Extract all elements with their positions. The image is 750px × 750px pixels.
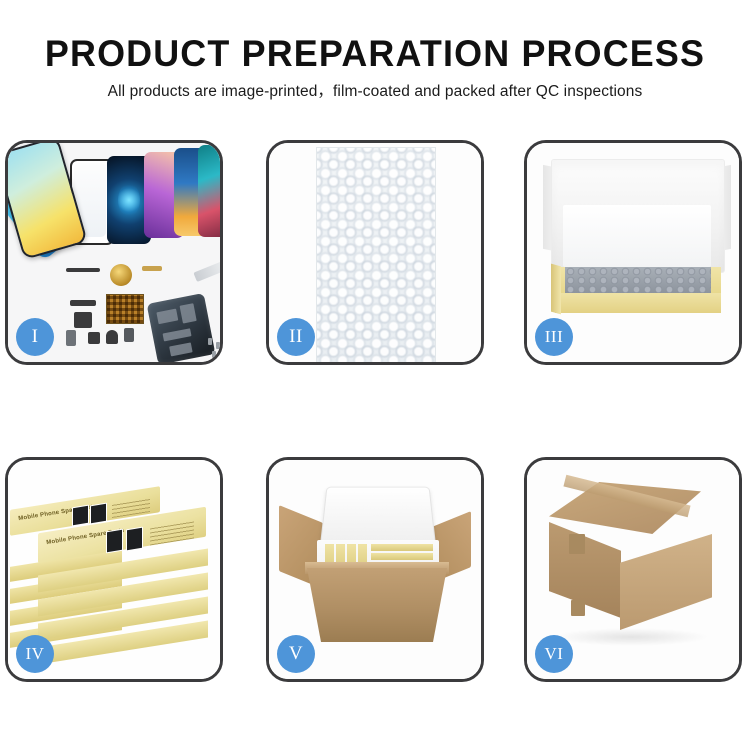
step-panel-4: Mobile Phone Spare Parts Mobile Phone Sp… — [5, 457, 223, 682]
screen-glow-icon — [118, 183, 140, 217]
page-subtitle: All products are image-printed，film-coat… — [0, 82, 750, 102]
spare-parts-cluster — [66, 258, 216, 362]
box-screen-image-b-icon — [90, 503, 107, 525]
logic-board-icon — [147, 293, 216, 362]
part-chip-grid-icon — [106, 294, 144, 324]
step-panel-3: III — [524, 140, 742, 365]
packed-box-icon — [371, 544, 433, 551]
step-panel-1: I — [5, 140, 223, 365]
part-sim-tray-icon — [66, 330, 76, 346]
step-badge-4: IV — [16, 635, 54, 673]
step-badge-3: III — [535, 318, 573, 356]
box-screen-image-a-icon — [106, 529, 123, 554]
tape-tab-upper-icon — [569, 534, 585, 554]
tray-front-panel-icon — [555, 293, 721, 313]
process-steps-grid: I II — [5, 140, 745, 685]
header: PRODUCT PREPARATION PROCESS All products… — [0, 34, 750, 102]
tape-tab-lower-icon — [571, 600, 585, 616]
step-panel-2: II — [266, 140, 484, 365]
part-strip-icon — [66, 268, 100, 272]
carton-body-icon — [307, 568, 447, 642]
bubble-wrapped-parts-icon — [565, 267, 711, 295]
part-connector-icon — [142, 266, 162, 271]
step-badge-6: VI — [535, 635, 573, 673]
step-badge-5: V — [277, 635, 315, 673]
foam-sheet-icon — [563, 205, 711, 267]
box-screen-image-a-icon — [72, 505, 89, 527]
carton-shadow — [553, 628, 709, 646]
screws-icon — [208, 338, 220, 360]
tray-side-lip-icon — [551, 264, 561, 315]
step-badge-2: II — [277, 318, 315, 356]
phone-teal-screen-icon — [198, 145, 220, 237]
part-button-icon — [124, 328, 134, 342]
part-coil-icon — [110, 264, 132, 286]
product-preparation-infographic: PRODUCT PREPARATION PROCESS All products… — [0, 0, 750, 750]
part-camera-icon — [88, 332, 100, 344]
part-flex-cable-icon — [70, 300, 96, 306]
part-module-icon — [74, 312, 92, 328]
step-panel-5: V — [266, 457, 484, 682]
step-panel-6: VI — [524, 457, 742, 682]
step-badge-1: I — [16, 318, 54, 356]
packed-box-icon — [371, 553, 433, 560]
part-speaker-icon — [106, 330, 118, 344]
page-title: PRODUCT PREPARATION PROCESS — [11, 34, 739, 74]
bubble-wrap-icon — [316, 147, 436, 362]
box-screen-image-b-icon — [126, 527, 143, 552]
